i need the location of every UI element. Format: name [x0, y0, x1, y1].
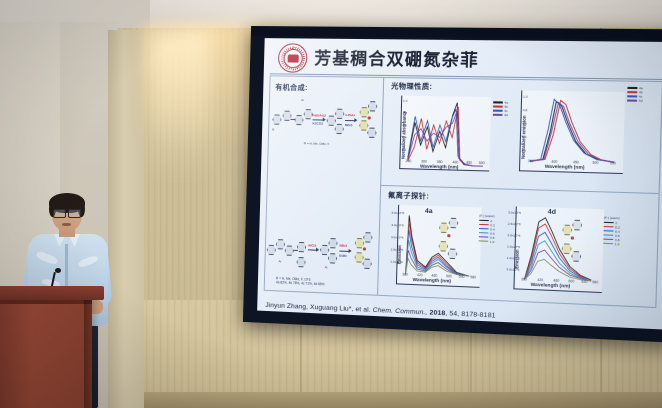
- x-tick: 500: [592, 161, 598, 165]
- x-tick: 500: [568, 279, 574, 283]
- university-seal-icon: [278, 43, 308, 73]
- y-tick: 5.0x10^5: [506, 267, 519, 272]
- legend-swatch: [493, 110, 503, 111]
- y-tick: 0.6: [522, 122, 527, 126]
- y-tick: 0.4: [522, 135, 527, 139]
- x-tick: 350: [528, 159, 534, 163]
- synthesis-footnote: R = H, Me, OMe, F, CF3 4a 82%, 4b 78%, 4…: [276, 276, 325, 287]
- absorption-xlabel: Wavelength (nm): [420, 164, 459, 170]
- y-tick: 0.2: [402, 148, 406, 152]
- x-tick: 400: [452, 160, 458, 164]
- x-tick: 540: [581, 280, 587, 284]
- seal-glyph: [287, 54, 298, 62]
- legend-header-4a: [F-] (equiv): [479, 214, 495, 219]
- legend-swatch: [493, 106, 503, 107]
- x-tick: 350: [437, 160, 443, 164]
- glasses-icon: [53, 209, 81, 216]
- glasses-lens-left: [53, 209, 66, 218]
- synthesis-schemes: Pd(OAc)2 K2CO3 n-BuLi BBr3 R Ar R = H, M…: [266, 94, 381, 291]
- legend-label: 4d: [639, 99, 643, 103]
- legend-label: 1.0: [615, 242, 620, 246]
- chart-fluoride-titration-4d: 4d Emission Wavelength (nm) 3.0x10^6 2.5…: [513, 206, 604, 293]
- citation-year: 2018: [429, 309, 445, 317]
- x-tick: 550: [610, 161, 616, 165]
- x-tick: 540: [459, 275, 465, 279]
- legend-swatch: [627, 96, 637, 97]
- y-tick: 0.2: [522, 149, 527, 153]
- chart-absorption-spectra: Normalized absorbance Wavelength (nm) 1.…: [399, 96, 491, 172]
- legend-swatch: [493, 114, 503, 115]
- y-tick: 1.0: [403, 99, 407, 103]
- x-tick: 500: [446, 274, 452, 278]
- legend-swatch: [627, 91, 637, 92]
- legend-label: 4d: [504, 113, 508, 117]
- microphone-head: [55, 268, 61, 273]
- footnote-line-2: 4a 82%, 4b 78%, 4c 71%, 4d 65%: [276, 281, 325, 287]
- y-tick: 2.0x10^6: [507, 233, 520, 238]
- x-tick: 460: [553, 279, 559, 283]
- legend-swatch: [493, 102, 503, 103]
- slide-title: 芳基稠合双硼氮杂菲: [314, 45, 479, 71]
- legend-swatch: [627, 100, 637, 101]
- x-tick: 400: [551, 160, 557, 164]
- podium-body: [0, 300, 92, 408]
- x-tick: 380: [521, 277, 527, 281]
- x-tick: 250: [406, 159, 412, 163]
- y-tick: 0.8: [403, 111, 407, 115]
- y-tick: 1.0x10^6: [507, 256, 520, 261]
- legend-header-4d: [F-] (equiv): [604, 216, 620, 221]
- y-tick: 5.0x10^6: [392, 211, 405, 215]
- y-tick: 0.6: [402, 123, 406, 127]
- ambient-light-beam: [150, 30, 210, 180]
- podium-shadow: [84, 300, 100, 408]
- legend-titration-4d: [F-] (equiv) 0 0.2 0.4 0.6 0.8 1.0: [603, 216, 620, 246]
- citation-volume: 54: [449, 310, 457, 318]
- x-tick: 450: [573, 160, 579, 164]
- y-tick: 0.4: [402, 135, 406, 139]
- x-tick: 450: [466, 161, 472, 165]
- x-tick: 380: [402, 272, 408, 276]
- y-tick: 4.0x10^6: [391, 223, 404, 228]
- projection-screen: 芳基稠合双硼氮杂菲 有机合成: 光物理性质: 氟离子探针:: [243, 26, 662, 343]
- x-tick: 580: [470, 275, 476, 279]
- x-tick: 580: [592, 280, 598, 284]
- y-tick: 1.5x10^6: [507, 245, 520, 250]
- y-tick: 1.0: [523, 95, 528, 99]
- slide-canvas: 芳基稠合双硼氮杂菲 有机合成: 光物理性质: 氟离子探针:: [257, 38, 662, 329]
- y-tick: 3.0x10^6: [508, 210, 521, 215]
- legend-swatch: [627, 87, 637, 88]
- y-tick: 2.0x10^6: [391, 247, 404, 252]
- emission-xlabel: Wavelength (nm): [545, 164, 585, 170]
- section-label-synthesis: 有机合成:: [275, 82, 308, 93]
- glasses-lens-right: [68, 209, 81, 218]
- x-tick: 420: [417, 273, 423, 277]
- legend-titration-4a: [F-] (equiv) 0 0.2 0.4 0.6 0.8 1.0: [479, 214, 496, 244]
- podium-lip: [0, 300, 92, 304]
- citation-pages: 8178-8181: [461, 311, 495, 320]
- presentation-photo: 芳基稠合双硼氮杂菲 有机合成: 光物理性质: 氟离子探针:: [0, 0, 662, 408]
- x-tick: 500: [479, 161, 485, 165]
- y-tick: 0.8: [523, 108, 528, 112]
- legend-label: 1.0: [490, 239, 495, 243]
- chart-emission-spectra: Normalized emission Wavelength (nm) 1.0 …: [519, 90, 625, 174]
- x-tick: 300: [421, 159, 427, 163]
- y-tick: 2.5x10^6: [508, 222, 521, 227]
- x-tick: 420: [537, 278, 543, 282]
- legend-emission: 4a 4b 4c 4d: [627, 86, 643, 103]
- citation-journal: Chem. Commun.,: [373, 307, 428, 317]
- section-label-photophysics: 光物理性质:: [391, 81, 433, 92]
- podium-top: [0, 286, 104, 300]
- section-label-probe: 氟离子探针:: [388, 190, 429, 201]
- absorption-curves: [399, 96, 491, 172]
- y-tick: 1.0x10^6: [390, 260, 403, 265]
- x-tick: 460: [431, 274, 437, 278]
- y-tick: 3.0x10^6: [391, 235, 404, 240]
- floor-strip: [118, 392, 662, 408]
- presenter-mouth: [62, 223, 71, 226]
- scheme-row: Pd(OAc)2 K2CO3 n-BuLi BBr3 R Ar R = H, M…: [269, 94, 380, 156]
- legend-absorption: 4a 4b 4c 4d: [493, 100, 508, 117]
